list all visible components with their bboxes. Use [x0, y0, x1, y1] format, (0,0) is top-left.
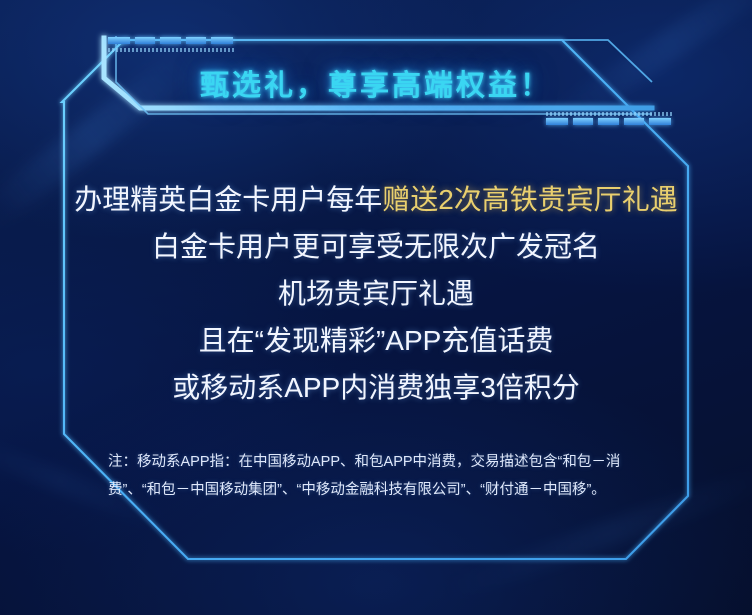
header-microline-top-left — [108, 48, 234, 52]
dash-segment — [160, 37, 181, 44]
benefit-line-plain: 白金卡用户更可享受无限次广发冠名 — [152, 231, 600, 262]
promo-banner: 甄选礼，尊享高端权益！ 办理精英白金卡用户每年赠送2次高铁贵宾厅礼遇 白金卡用户… — [0, 0, 752, 615]
dash-segment — [108, 37, 130, 44]
benefit-lines: 办理精英白金卡用户每年赠送2次高铁贵宾厅礼遇 白金卡用户更可享受无限次广发冠名 … — [62, 176, 690, 411]
header-microline-bottom-right — [546, 112, 672, 116]
dash-segment — [598, 118, 619, 125]
dash-segment — [649, 118, 671, 125]
benefit-line-plain: 且在“发现精彩”APP充值话费 — [199, 325, 554, 356]
header-dash-group-bottom-right — [546, 118, 671, 125]
benefit-line: 且在“发现精彩”APP充值话费 — [62, 317, 690, 364]
benefit-line: 机场贵宾厅礼遇 — [62, 270, 690, 317]
benefit-line: 或移动系APP内消费独享3倍积分 — [62, 364, 690, 411]
banner-title: 甄选礼，尊享高端权益！ — [0, 62, 752, 104]
benefit-line-highlight: 赠送2次高铁贵宾厅礼遇 — [382, 184, 678, 215]
footnote: 注：移动系APP指：在中国移动APP、和包APP中消费，交易描述包含“和包－消费… — [108, 448, 648, 504]
benefit-line: 办理精英白金卡用户每年赠送2次高铁贵宾厅礼遇 — [62, 176, 690, 223]
dash-segment — [546, 118, 568, 125]
dash-segment — [573, 118, 593, 125]
benefit-line-plain: 办理精英白金卡用户每年 — [74, 184, 382, 215]
dash-segment — [211, 37, 233, 44]
benefit-line-plain: 机场贵宾厅礼遇 — [278, 278, 474, 309]
header-dash-group-top-left — [108, 37, 233, 44]
benefit-line-plain: 或移动系APP内消费独享3倍积分 — [172, 372, 580, 403]
dash-segment — [186, 37, 206, 44]
dash-segment — [135, 37, 155, 44]
dash-segment — [624, 118, 644, 125]
benefit-line: 白金卡用户更可享受无限次广发冠名 — [62, 223, 690, 270]
